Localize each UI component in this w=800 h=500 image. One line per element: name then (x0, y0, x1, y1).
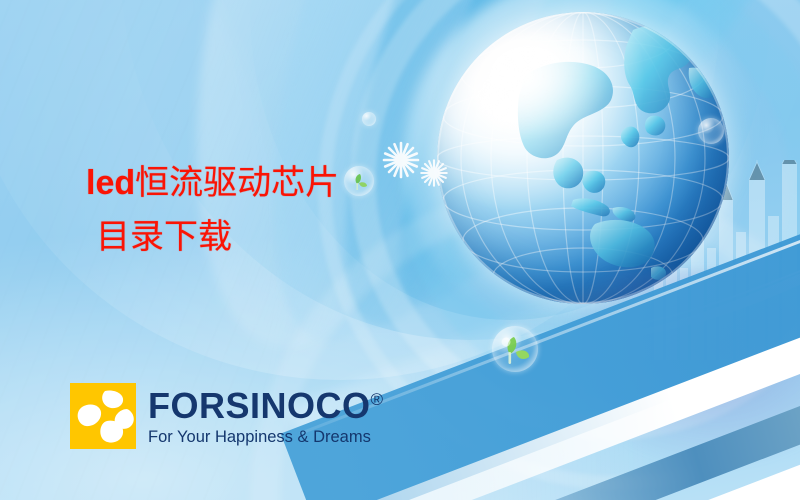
brand-name-text: FORSINOCO (148, 385, 371, 426)
globe-sphere (437, 12, 729, 304)
page-title-line-1: led恒流驱动芯片 (86, 166, 339, 201)
registered-mark: ® (371, 390, 384, 409)
banner-canvas: led恒流驱动芯片 目录下载 FORSINOCO® For Your Happi… (0, 0, 800, 500)
world-globe-icon (437, 12, 729, 304)
globe-rim (437, 12, 729, 304)
four-petal-pinwheel-icon (70, 383, 136, 449)
brand-text: FORSINOCO® For Your Happiness & Dreams (148, 383, 384, 446)
page-title-latin: led (86, 164, 135, 202)
page-title-line-2: 目录下载 (96, 221, 339, 255)
bubble-icon (344, 166, 374, 196)
brand-name: FORSINOCO® (148, 388, 384, 424)
bubble-icon (492, 326, 538, 372)
brand-tagline: For Your Happiness & Dreams (148, 429, 384, 446)
bubble-icon (698, 118, 724, 144)
page-title-cjk: 恒流驱动芯片 (135, 165, 339, 202)
brand-logo: FORSINOCO® For Your Happiness & Dreams (70, 383, 384, 449)
bubble-icon (362, 112, 376, 126)
page-title: led恒流驱动芯片 目录下载 (86, 166, 339, 255)
